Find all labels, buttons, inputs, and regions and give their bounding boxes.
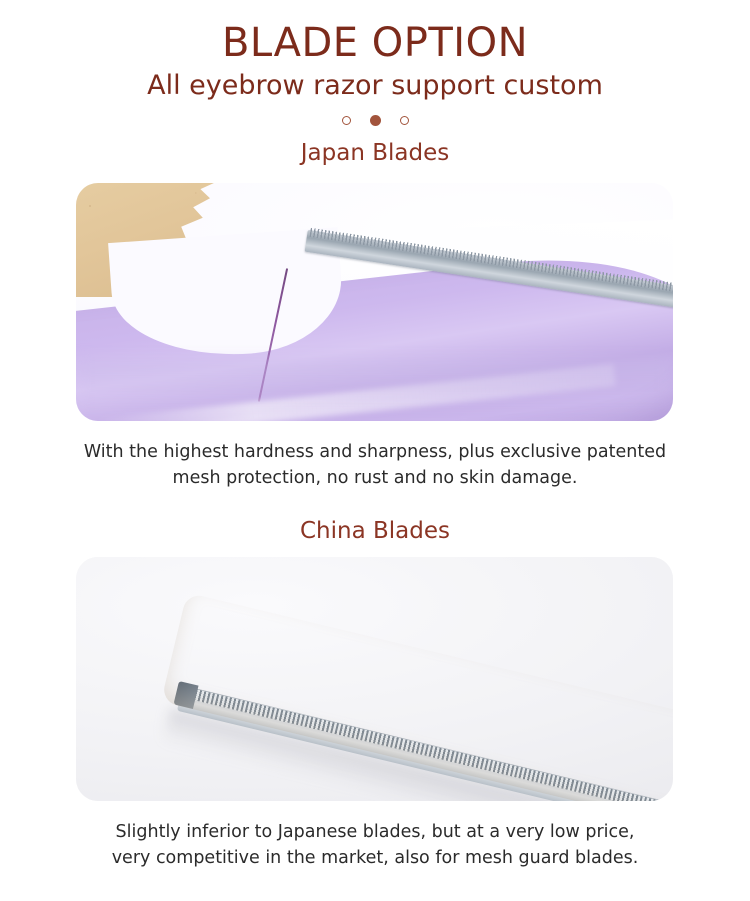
pagination-dot-2-active[interactable]	[370, 115, 381, 126]
description-japan-blades: With the highest hardness and sharpness,…	[0, 440, 750, 491]
pagination-dot-1[interactable]	[342, 116, 351, 125]
description-china-line-1: Slightly inferior to Japanese blades, bu…	[0, 820, 750, 846]
page-title: BLADE OPTION	[0, 22, 750, 65]
section-heading-japan: Japan Blades	[0, 140, 750, 168]
description-japan-line-1: With the highest hardness and sharpness,…	[0, 440, 750, 466]
section-heading-china: China Blades	[0, 518, 750, 546]
description-china-line-2: very competitive in the market, also for…	[0, 846, 750, 872]
pagination-dots[interactable]	[0, 113, 750, 127]
pagination-dot-3[interactable]	[400, 116, 409, 125]
product-image-japan-blades	[76, 183, 673, 421]
blade-option-page: BLADE OPTION All eyebrow razor support c…	[0, 0, 750, 901]
description-japan-line-2: mesh protection, no rust and no skin dam…	[0, 466, 750, 492]
page-subtitle: All eyebrow razor support custom	[0, 70, 750, 102]
japan-image-reflection	[76, 359, 673, 421]
page-header: BLADE OPTION All eyebrow razor support c…	[0, 0, 750, 102]
product-image-china-blades	[76, 557, 673, 801]
japan-image-canvas	[76, 183, 673, 421]
china-image-canvas	[76, 557, 673, 801]
description-china-blades: Slightly inferior to Japanese blades, bu…	[0, 820, 750, 871]
